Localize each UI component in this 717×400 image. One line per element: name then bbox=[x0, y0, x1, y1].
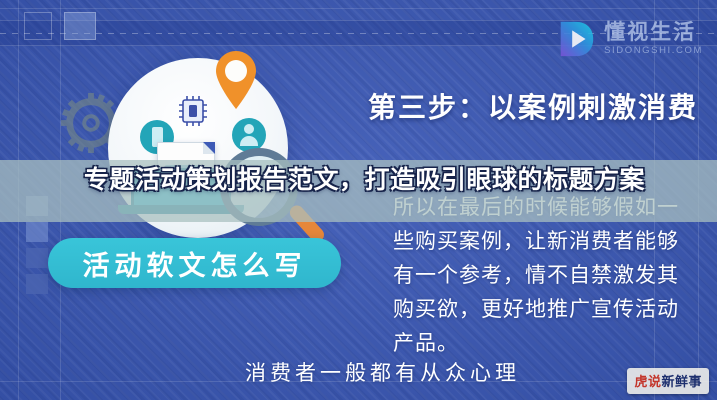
poster-image: 懂视生活 SIDONGSHI.COM 第三步：以案例刺激消费 所以在最后的时候能… bbox=[0, 0, 717, 400]
left-edge-chip-2 bbox=[26, 222, 48, 242]
watermark-brand-en: SIDONGSHI.COM bbox=[604, 46, 703, 56]
decor-square-outline bbox=[24, 12, 52, 40]
chip-icon bbox=[175, 95, 211, 127]
watermark-bottom-part1: 虎说 bbox=[634, 375, 661, 390]
location-pin-icon bbox=[212, 49, 260, 111]
pill-label: 活动软文怎么写 bbox=[83, 244, 307, 283]
left-edge-chip-3 bbox=[26, 248, 48, 268]
decor-square-filled bbox=[64, 12, 96, 40]
frame-line-top bbox=[0, 8, 717, 9]
left-edge-chip-4 bbox=[26, 274, 48, 294]
watermark-bottom-right: 虎说新鲜事 bbox=[627, 368, 709, 394]
overlay-title: 专题活动策划报告范文，打造吸引眼球的标题方案 bbox=[40, 164, 689, 196]
user-icon-head bbox=[244, 124, 254, 134]
bottom-caption: 消费者一般都有从众心理 bbox=[245, 357, 520, 387]
watermark-brand-cn: 懂视生活 bbox=[604, 22, 703, 43]
pill-badge: 活动软文怎么写 bbox=[48, 238, 341, 288]
watermark-top-right: 懂视生活 SIDONGSHI.COM bbox=[555, 18, 703, 60]
step-heading: 第三步：以案例刺激消费 bbox=[368, 86, 698, 126]
play-logo-icon bbox=[555, 18, 597, 60]
watermark-bottom-part2: 新鲜事 bbox=[661, 375, 702, 390]
